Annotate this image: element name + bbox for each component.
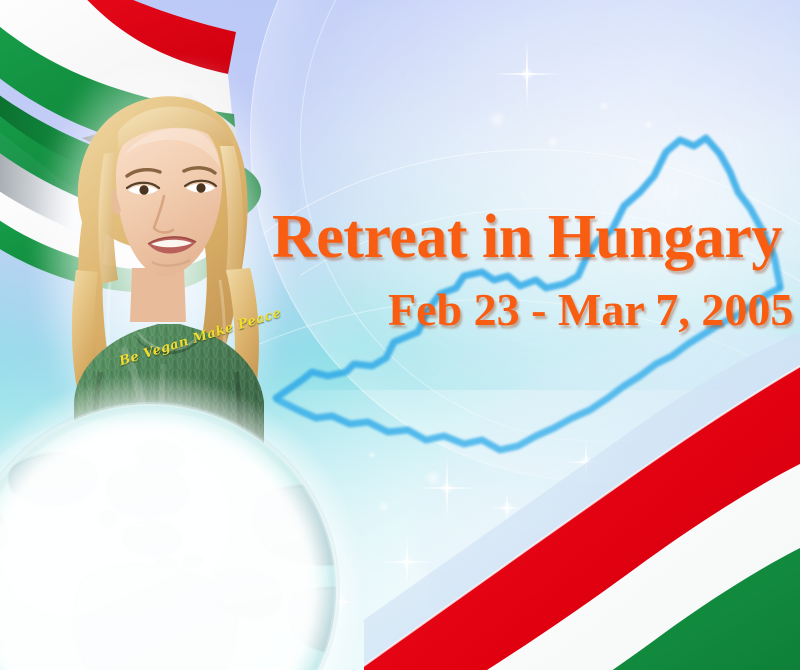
bokeh-dot <box>547 136 559 148</box>
bokeh-dot <box>488 111 506 129</box>
earth-globe <box>0 400 340 670</box>
event-dates: Feb 23 - Mar 7, 2005 <box>388 283 793 336</box>
hungarian-flag-ribbon-bottom-right-icon <box>364 334 800 670</box>
poster-canvas: Be Vegan Make Peace <box>0 0 800 670</box>
bokeh-dot <box>599 101 609 111</box>
bokeh-dot <box>644 120 653 129</box>
page-title: Retreat in Hungary <box>272 206 782 269</box>
